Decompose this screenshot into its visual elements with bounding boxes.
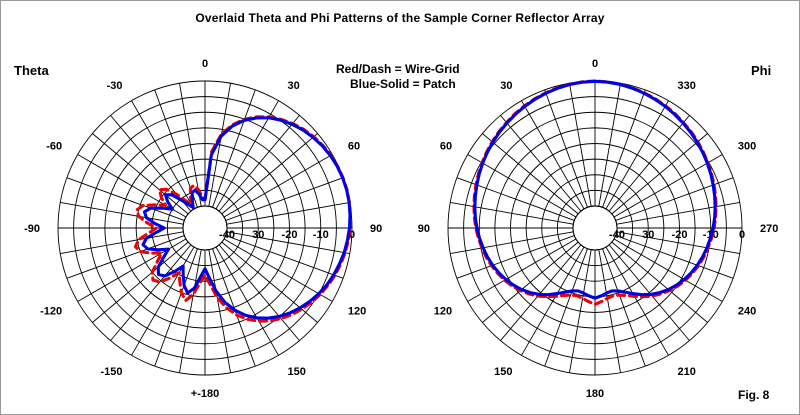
angle-tick-label: 270: [760, 223, 778, 235]
polar-grid: [448, 81, 742, 375]
angle-tick-label: 300: [738, 141, 756, 153]
angle-tick-label: 330: [678, 80, 696, 92]
angle-tick-label: 90: [418, 223, 430, 235]
angle-tick-label: 180: [586, 388, 604, 400]
angle-tick-label: 150: [494, 366, 512, 378]
angle-tick-label: 120: [434, 306, 452, 318]
radial-tick-label: 30: [642, 229, 654, 241]
angle-tick-label: 0: [592, 58, 598, 70]
angle-tick-label: 240: [738, 306, 756, 318]
radial-tick-labels: -4030-20-100: [609, 229, 745, 241]
radial-tick-label: -20: [672, 229, 688, 241]
grid-hub: [573, 206, 617, 250]
angle-tick-labels: 0306090120150180210240270300330: [418, 58, 779, 400]
radial-tick-label: -40: [609, 229, 625, 241]
angle-tick-label: 30: [500, 80, 512, 92]
angle-tick-label: 210: [678, 366, 696, 378]
angle-tick-label: 60: [440, 141, 452, 153]
figure-caption: Fig. 8: [738, 388, 769, 402]
radial-tick-label: 0: [739, 229, 745, 241]
phi-polar-plot: 0306090120150180210240270300330-4030-20-…: [0, 0, 800, 415]
